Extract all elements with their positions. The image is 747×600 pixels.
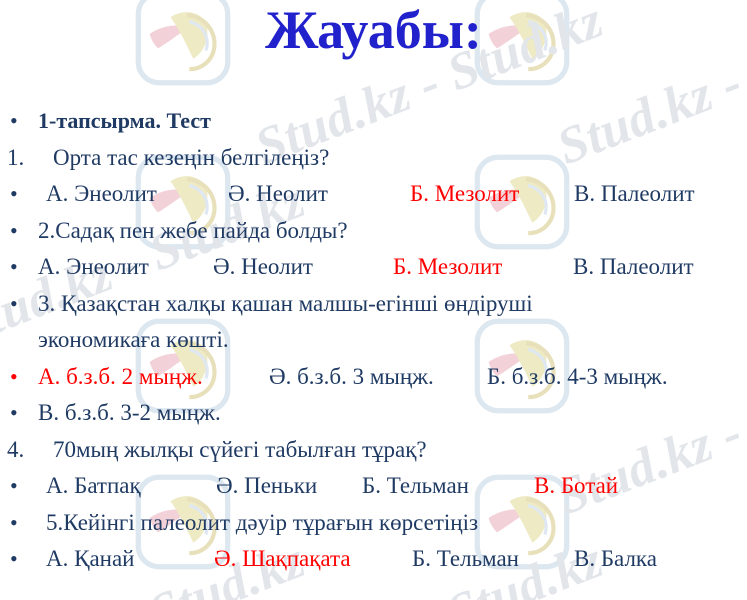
list-item-text: 70мың жылқы сүйегі табылған тұрақ?: [53, 432, 427, 469]
list-item: 3. Қазақстан халқы қашан малшы-егінші өн…: [0, 286, 747, 323]
answer-option: В. Палеолит: [573, 254, 694, 280]
answer-option-correct: Б. Мезолит: [410, 181, 574, 207]
list-item-text: Орта тас кезеңін белгілеңіз?: [53, 140, 329, 177]
list-item: В. б.з.б. 3-2 мыңж.: [0, 395, 747, 432]
list-item: А. ЭнеолитӘ. НеолитБ. МезолитВ. Палеолит: [0, 176, 747, 213]
list-number: 1.: [7, 140, 24, 177]
list-item-text: 3. Қазақстан халқы қашан малшы-егінші өн…: [38, 286, 533, 323]
answer-option: Б. Тельман: [362, 473, 534, 499]
answer-option: А. Қанай: [46, 546, 214, 572]
answer-option-correct: А. б.з.б. 2 мыңж.: [38, 364, 269, 390]
list-item-text: А. БатпақӘ. ПенькиБ. ТельманВ. Ботай: [46, 468, 618, 505]
answer-option: экономикаға көшті.: [38, 327, 229, 353]
answer-option: 5.Кейінгі палеолит дәуір тұрағын көрсеті…: [46, 510, 478, 536]
answer-option: Б. Тельман: [412, 546, 574, 572]
answer-option-correct: Ә. Шақпақата: [214, 546, 412, 572]
answer-option: В. Палеолит: [574, 181, 695, 207]
page-title: Жауабы:: [0, 0, 747, 62]
answer-option: Ә. Пеньки: [216, 473, 362, 499]
list-item-text: 1-тапсырма. Тест: [38, 103, 211, 140]
list-item-text: экономикаға көшті.: [38, 322, 229, 359]
list-bullet-icon: [10, 286, 18, 323]
answer-option: А. Энеолит: [38, 254, 213, 280]
list-bullet-icon: [10, 176, 18, 213]
answer-option: 3. Қазақстан халқы қашан малшы-егінші өн…: [38, 291, 533, 317]
list-item-text: А. ЭнеолитӘ. НеолитБ. МезолитВ. Палеолит: [46, 176, 695, 213]
list-item: А. б.з.б. 2 мыңж.Ә. б.з.б. 3 мыңж.Б. б.з…: [0, 359, 747, 396]
list-bullet-icon: [10, 359, 18, 396]
list-item: 2.Садақ пен жебе пайда болды?: [0, 213, 747, 250]
list-item-text: А. б.з.б. 2 мыңж.Ә. б.з.б. 3 мыңж.Б. б.з…: [38, 359, 668, 396]
list-item-text: 2.Садақ пен жебе пайда болды?: [38, 213, 348, 250]
answer-option: 2.Садақ пен жебе пайда болды?: [38, 218, 348, 244]
answer-option-correct: Б. Мезолит: [393, 254, 573, 280]
list-item-text: В. б.з.б. 3-2 мыңж.: [38, 395, 221, 432]
list-bullet-icon: [10, 468, 18, 505]
list-bullet-icon: [10, 249, 18, 286]
list-item-text: 5.Кейінгі палеолит дәуір тұрағын көрсеті…: [46, 505, 478, 542]
answer-option: А. Энеолит: [46, 181, 228, 207]
list-bullet-icon: [10, 541, 18, 578]
list-item-text: А. ЭнеолитӘ. НеолитБ. МезолитВ. Палеолит: [38, 249, 694, 286]
answer-option: Ә. б.з.б. 3 мыңж.: [269, 364, 487, 390]
answer-option: Ә. Неолит: [228, 181, 410, 207]
answer-option: 70мың жылқы сүйегі табылған тұрақ?: [53, 437, 427, 463]
list-bullet-icon: [10, 103, 18, 140]
answer-option: В. Балка: [574, 546, 657, 572]
answer-list: 1-тапсырма. Тест1.Орта тас кезеңін белгі…: [0, 103, 747, 578]
list-item: 1-тапсырма. Тест: [0, 103, 747, 140]
list-bullet-icon: [10, 213, 18, 250]
answer-option-correct: В. Ботай: [534, 473, 618, 499]
list-item: экономикаға көшті.: [0, 322, 747, 359]
answer-option: 1-тапсырма. Тест: [38, 108, 211, 134]
answer-option: Б. б.з.б. 4-3 мыңж.: [487, 364, 668, 390]
list-item: 5.Кейінгі палеолит дәуір тұрағын көрсеті…: [0, 505, 747, 542]
list-item: А. ҚанайӘ. ШақпақатаБ. ТельманВ. Балка: [0, 541, 747, 578]
answer-option: Орта тас кезеңін белгілеңіз?: [53, 145, 329, 171]
list-bullet-icon: [10, 505, 18, 542]
list-item: 1.Орта тас кезеңін белгілеңіз?: [0, 140, 747, 177]
answer-option: В. б.з.б. 3-2 мыңж.: [38, 400, 221, 426]
list-item: А. БатпақӘ. ПенькиБ. ТельманВ. Ботай: [0, 468, 747, 505]
list-item: А. ЭнеолитӘ. НеолитБ. МезолитВ. Палеолит: [0, 249, 747, 286]
answer-option: А. Батпақ: [46, 473, 216, 499]
list-bullet-icon: [10, 395, 18, 432]
list-number: 4.: [7, 432, 24, 469]
answer-option: Ә. Неолит: [213, 254, 393, 280]
slide-content: Жауабы: 1-тапсырма. Тест1.Орта тас кезең…: [0, 0, 747, 600]
list-item-text: А. ҚанайӘ. ШақпақатаБ. ТельманВ. Балка: [46, 541, 657, 578]
list-item: 4.70мың жылқы сүйегі табылған тұрақ?: [0, 432, 747, 469]
